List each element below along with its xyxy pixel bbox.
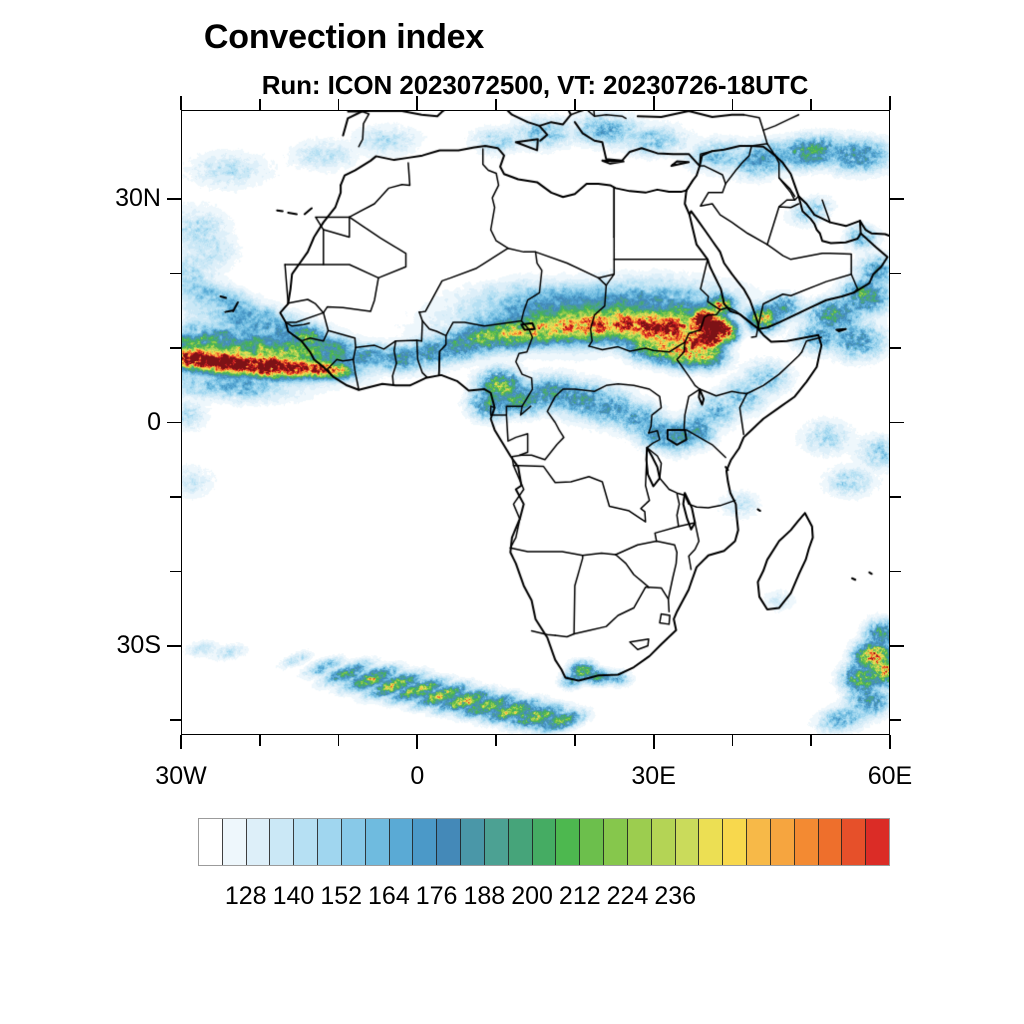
x-tick	[810, 735, 812, 746]
y-tick	[167, 198, 181, 200]
colorbar-segment	[795, 819, 819, 865]
colorbar-segment	[628, 819, 652, 865]
colorbar-segment	[270, 819, 294, 865]
y-tick	[890, 198, 904, 200]
colorbar-segment	[318, 819, 342, 865]
convection-index-heatmap	[182, 111, 889, 734]
y-axis-label: 0	[41, 408, 161, 437]
colorbar-segment	[294, 819, 318, 865]
page-title-text: Convection index	[204, 18, 484, 57]
x-tick	[259, 99, 261, 110]
x-tick	[574, 735, 576, 746]
colorbar-segment	[366, 819, 390, 865]
colorbar-segment	[604, 819, 628, 865]
x-tick	[732, 99, 734, 110]
y-tick	[890, 571, 901, 573]
colorbar-swatches	[198, 818, 890, 866]
colorbar-segment	[509, 819, 533, 865]
y-axis-label: 30S	[41, 631, 161, 660]
page-subtitle-text: Run: ICON 2023072500, VT: 20230726-18UTC	[262, 70, 809, 101]
colorbar-segment	[747, 819, 771, 865]
x-axis-label: 30E	[584, 762, 724, 791]
y-tick	[890, 347, 901, 349]
y-tick	[170, 496, 181, 498]
colorbar-segment	[342, 819, 366, 865]
x-tick	[653, 735, 655, 749]
colorbar-segment	[199, 819, 223, 865]
page-title: Convection index	[0, 18, 1024, 57]
x-axis-label: 30W	[111, 762, 251, 791]
colorbar-segment	[437, 819, 461, 865]
y-tick	[170, 571, 181, 573]
colorbar-segment	[556, 819, 580, 865]
x-tick	[338, 99, 340, 110]
x-tick	[259, 735, 261, 746]
colorbar-segment	[723, 819, 747, 865]
colorbar-segment	[771, 819, 795, 865]
y-tick	[170, 347, 181, 349]
x-tick	[416, 735, 418, 749]
y-tick	[170, 719, 181, 721]
y-tick	[167, 645, 181, 647]
colorbar-segment	[842, 819, 866, 865]
x-tick	[180, 96, 182, 110]
x-tick	[416, 96, 418, 110]
colorbar-segment	[819, 819, 843, 865]
colorbar-tick-label: 236	[630, 882, 720, 911]
colorbar-segment	[390, 819, 414, 865]
y-tick	[167, 422, 181, 424]
x-tick	[495, 99, 497, 110]
colorbar-segment	[223, 819, 247, 865]
map-plot-area	[181, 110, 890, 735]
x-tick	[180, 735, 182, 749]
figure-root: Convection index Run: ICON 2023072500, V…	[0, 0, 1024, 1024]
x-tick	[810, 99, 812, 110]
x-tick	[889, 96, 891, 110]
y-tick	[890, 496, 901, 498]
colorbar-segment	[699, 819, 723, 865]
colorbar	[198, 818, 890, 866]
y-tick	[890, 422, 904, 424]
x-tick	[653, 96, 655, 110]
y-tick	[170, 273, 181, 275]
y-tick	[890, 719, 901, 721]
colorbar-segment	[413, 819, 437, 865]
x-tick	[338, 735, 340, 746]
x-tick	[889, 735, 891, 749]
colorbar-segment	[580, 819, 604, 865]
page-subtitle: Run: ICON 2023072500, VT: 20230726-18UTC	[0, 70, 1024, 101]
colorbar-segment	[652, 819, 676, 865]
x-tick	[574, 99, 576, 110]
colorbar-segment	[533, 819, 557, 865]
x-tick	[732, 735, 734, 746]
colorbar-segment	[676, 819, 700, 865]
colorbar-segment	[485, 819, 509, 865]
colorbar-segment	[866, 819, 889, 865]
y-axis-label: 30N	[41, 184, 161, 213]
colorbar-segment	[247, 819, 271, 865]
x-axis-label: 60E	[820, 762, 960, 791]
y-tick	[890, 645, 904, 647]
x-tick	[495, 735, 497, 746]
colorbar-segment	[461, 819, 485, 865]
y-tick	[890, 273, 901, 275]
x-axis-label: 0	[347, 762, 487, 791]
